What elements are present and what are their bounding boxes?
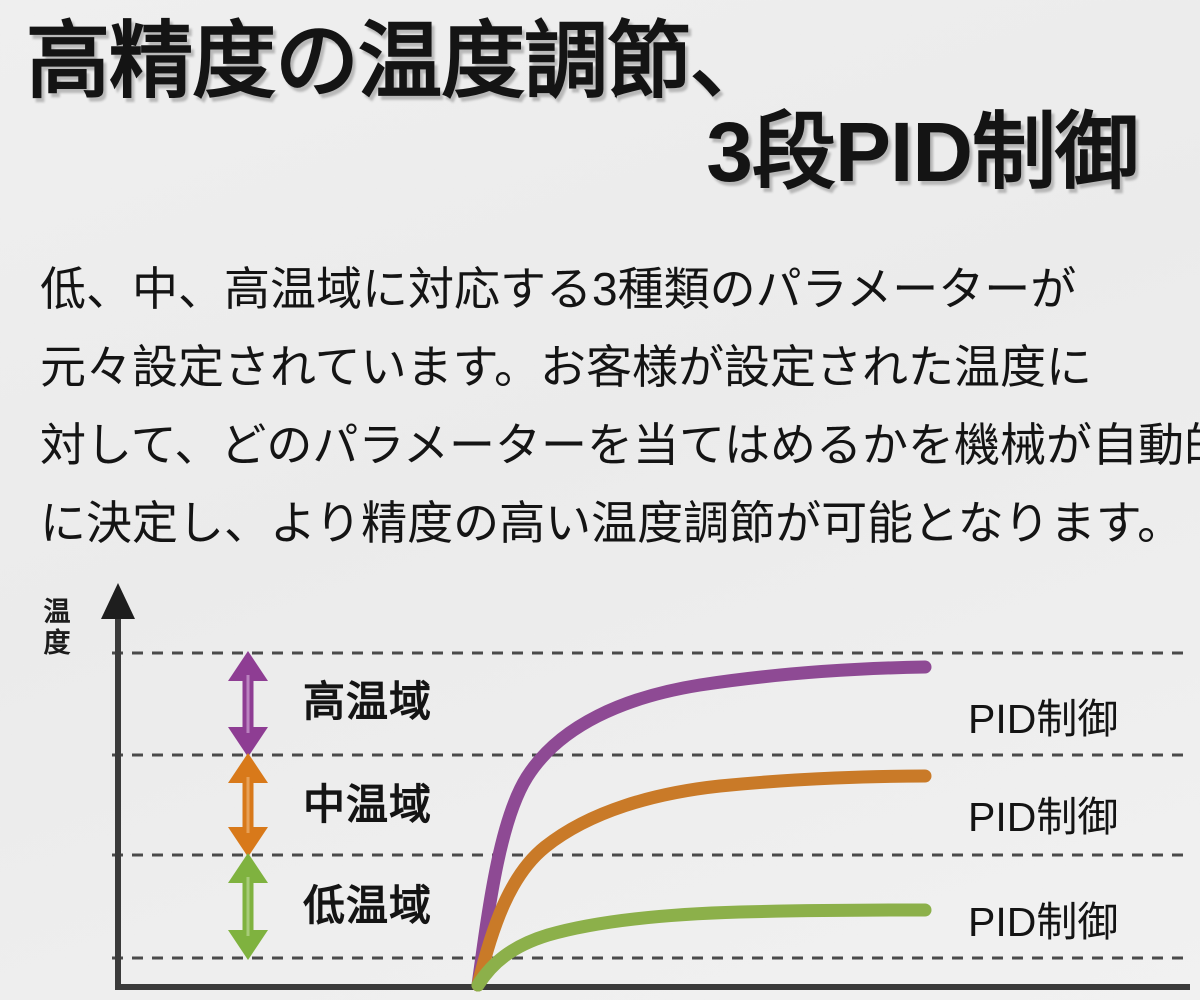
range-arrow-high <box>228 651 268 757</box>
range-arrow-low <box>228 853 268 960</box>
curve-low-temp <box>478 910 925 985</box>
y-axis-label: 温度 <box>40 597 74 659</box>
band-label-high: 高温域 <box>303 668 432 729</box>
headline-line-2: 3段PID制御 <box>0 109 1160 196</box>
curve-label-low: PID制御 <box>968 888 1118 948</box>
range-arrow-mid <box>228 753 268 857</box>
curve-label-mid: PID制御 <box>968 783 1118 843</box>
pid-control-chart: 温度 <box>0 575 1200 1000</box>
headline-block: 高精度の温度調節、 3段PID制御 <box>0 18 1180 197</box>
y-axis-arrow-icon <box>101 583 135 619</box>
band-label-low: 低温域 <box>303 872 432 933</box>
body-line-3: 対して、どのパラメーターを当てはめるかを機械が自動的 <box>40 406 1165 484</box>
body-paragraph: 低、中、高温域に対応する3種類のパラメーターが 元々設定されています。お客様が設… <box>40 250 1165 562</box>
body-line-4: に決定し、より精度の高い温度調節が可能となります。 <box>40 484 1165 562</box>
body-line-2: 元々設定されています。お客様が設定された温度に <box>40 328 1165 406</box>
band-label-mid: 中温域 <box>303 771 432 832</box>
body-line-1: 低、中、高温域に対応する3種類のパラメーターが <box>40 250 1165 328</box>
y-axis <box>101 583 135 987</box>
curve-mid-temp <box>478 776 925 985</box>
headline-line-1: 高精度の温度調節、 <box>0 18 1160 105</box>
pid-curves <box>478 667 925 985</box>
curve-label-high: PID制御 <box>968 685 1118 745</box>
